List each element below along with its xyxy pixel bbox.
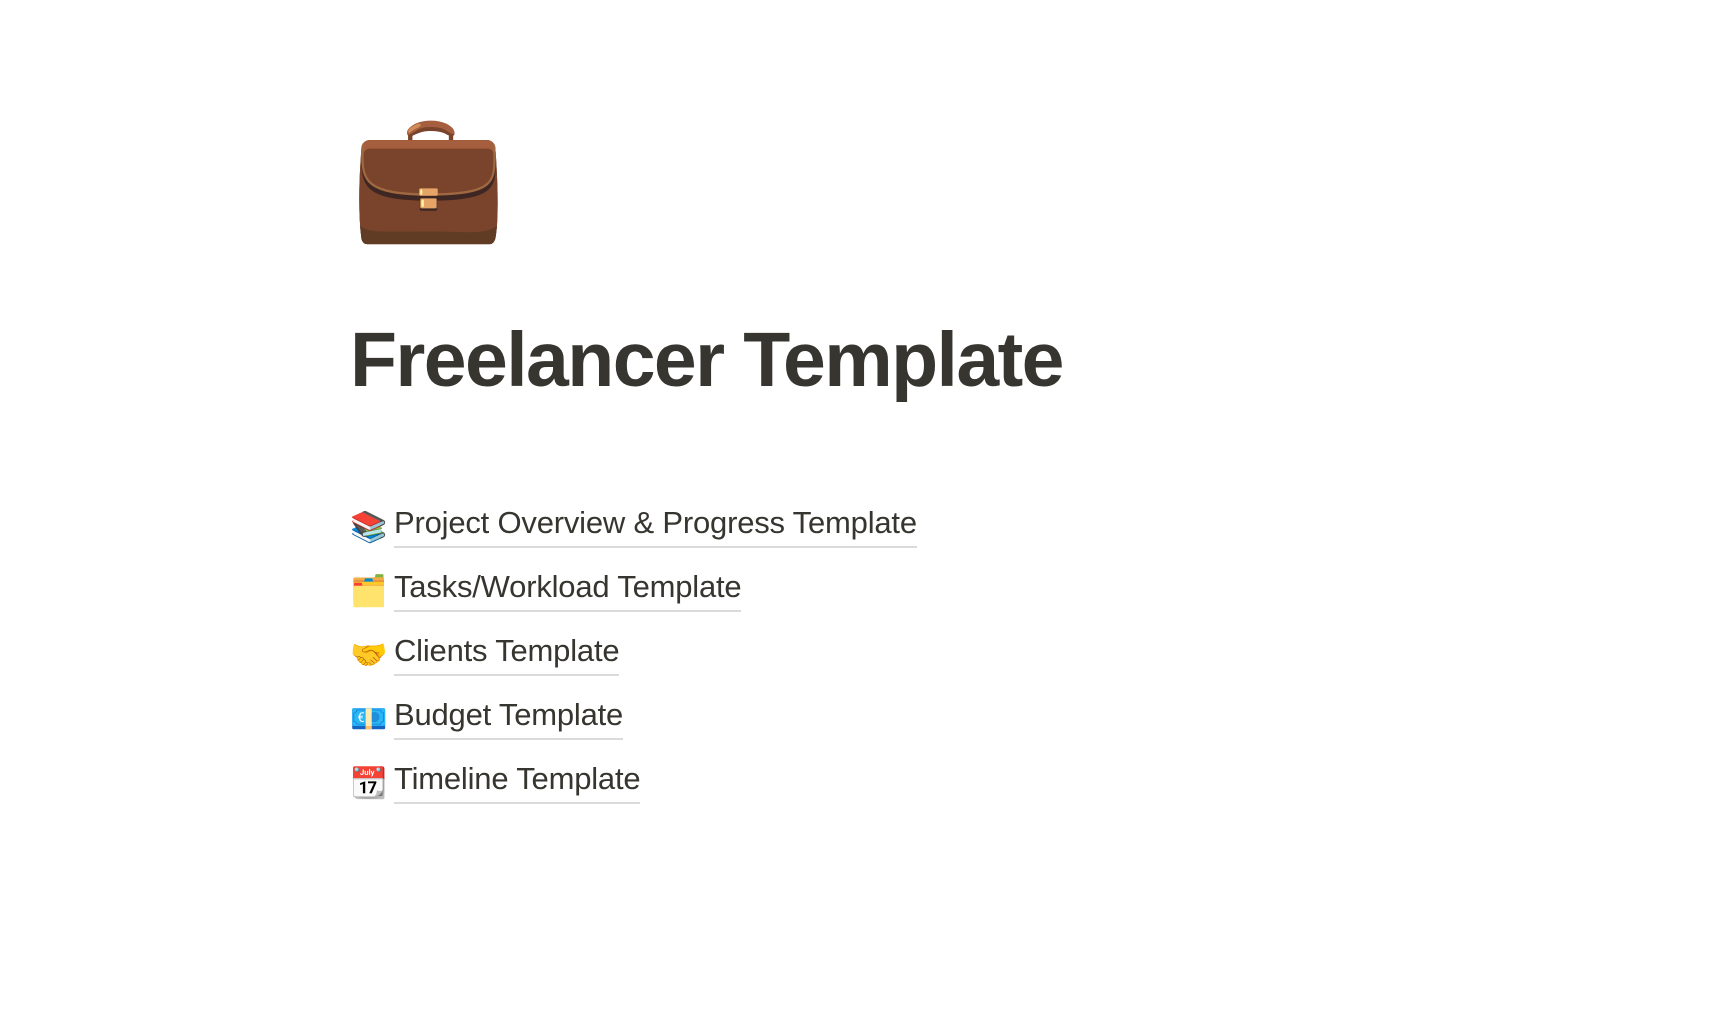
link-timeline-template[interactable]: Timeline Template — [394, 759, 640, 804]
tear-off-calendar-icon: 📆 — [350, 764, 394, 804]
link-tasks-workload-template[interactable]: Tasks/Workload Template — [394, 567, 741, 612]
document-page: 💼 Freelancer Template 📚 Project Overview… — [0, 0, 1734, 1024]
card-index-dividers-icon: 🗂️ — [350, 572, 394, 612]
link-clients-template[interactable]: Clients Template — [394, 631, 619, 676]
list-item[interactable]: 🤝 Clients Template — [350, 612, 1450, 676]
list-item[interactable]: 📆 Timeline Template — [350, 740, 1450, 804]
template-link-list: 📚 Project Overview & Progress Template 🗂… — [350, 484, 1450, 804]
books-icon: 📚 — [350, 508, 394, 548]
page-title: Freelancer Template — [350, 320, 1450, 402]
page-content: 💼 Freelancer Template 📚 Project Overview… — [350, 112, 1450, 804]
link-budget-template[interactable]: Budget Template — [394, 695, 623, 740]
link-project-overview-progress-template[interactable]: Project Overview & Progress Template — [394, 503, 917, 548]
briefcase-icon[interactable]: 💼 — [350, 112, 1450, 254]
list-item[interactable]: 📚 Project Overview & Progress Template — [350, 484, 1450, 548]
list-item[interactable]: 🗂️ Tasks/Workload Template — [350, 548, 1450, 612]
euro-banknote-icon: 💶 — [350, 700, 394, 740]
list-item[interactable]: 💶 Budget Template — [350, 676, 1450, 740]
handshake-icon: 🤝 — [350, 636, 394, 676]
